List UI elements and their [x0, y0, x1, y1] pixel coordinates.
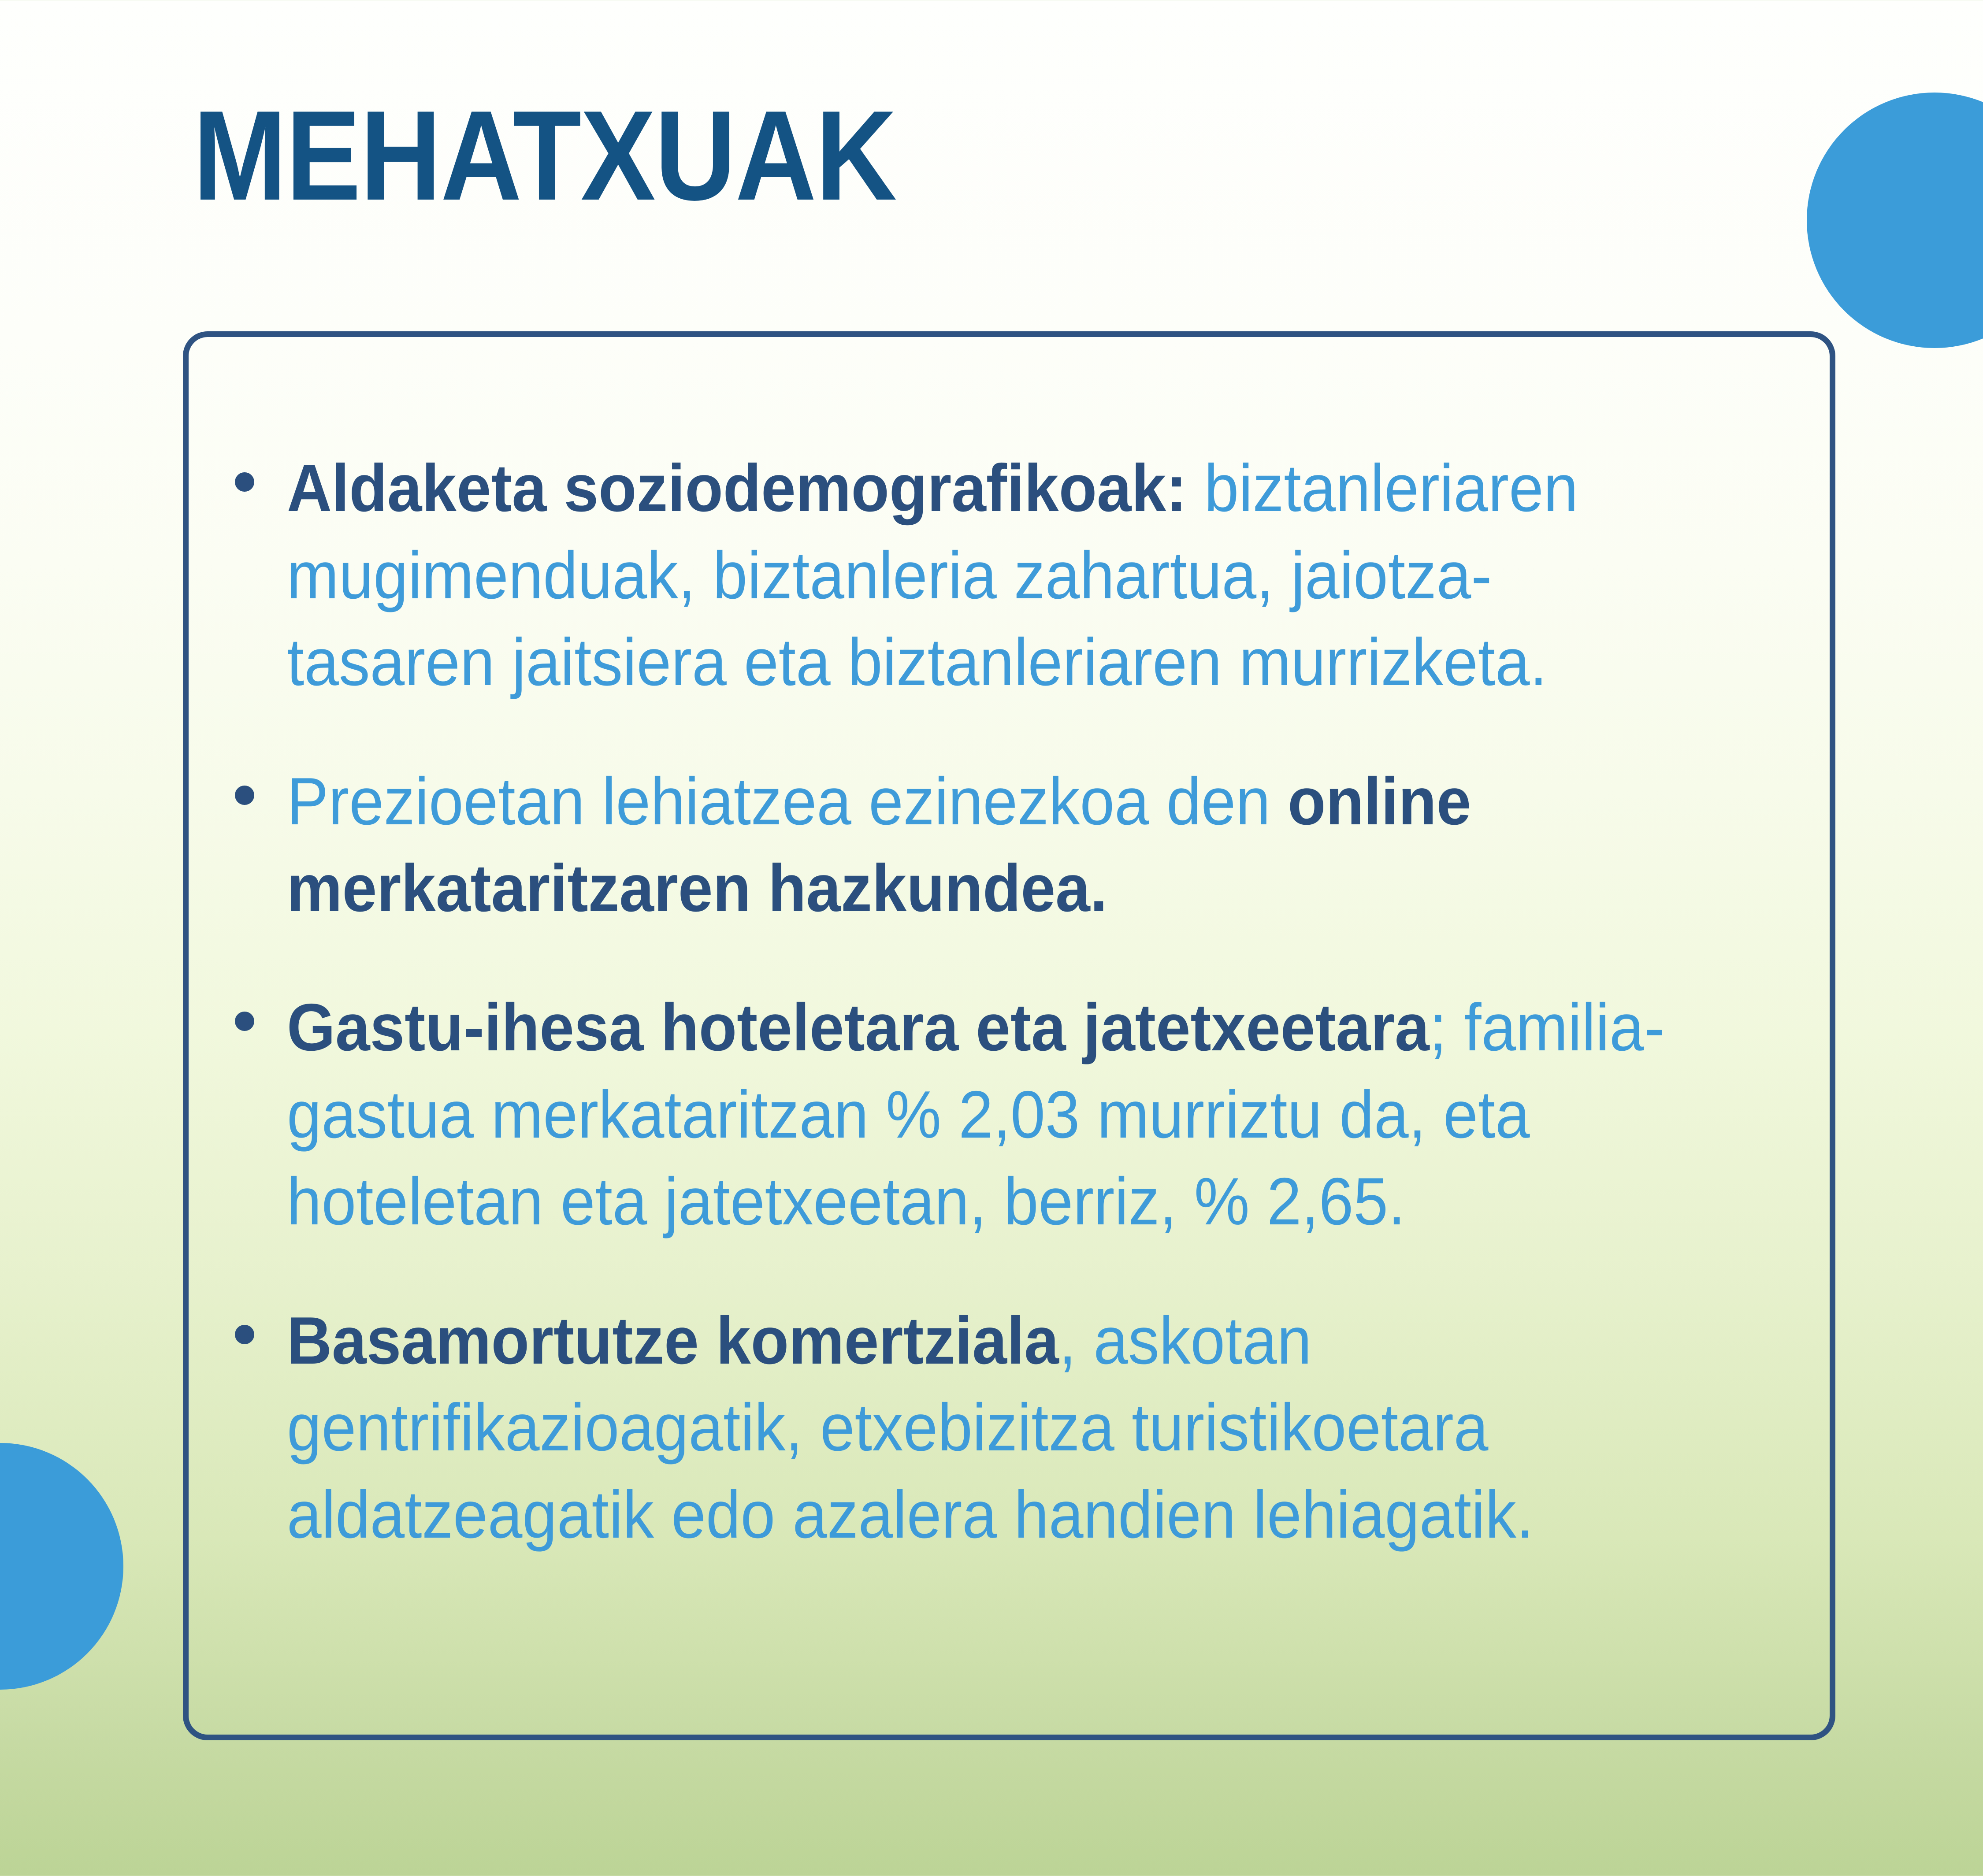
list-item-text: Gastu-ihesa hoteletara eta jatetxeetara;…	[287, 984, 1681, 1246]
list-item: Aldaketa soziodemografikoak: biztanleria…	[235, 445, 1786, 706]
list-item-segment-regular: Prezioetan lehiatzea ezinezkoa den	[287, 764, 1288, 839]
list-item-segment-bold: Basamortutze komertziala	[287, 1303, 1059, 1378]
list-item-text: Prezioetan lehiatzea ezinezkoa den onlin…	[287, 758, 1681, 932]
decorative-circle-bottom-left	[0, 1443, 123, 1690]
threats-card: Aldaketa soziodemografikoak: biztanleria…	[183, 331, 1835, 1740]
list-item-segment-bold: Gastu-ihesa hoteletara eta jatetxeetara	[287, 990, 1430, 1065]
list-item: Gastu-ihesa hoteletara eta jatetxeetara;…	[235, 984, 1786, 1246]
page-title: MEHATXUAK	[193, 92, 896, 219]
list-item-text: Basamortutze komertziala, askotan gentri…	[287, 1298, 1681, 1559]
list-item: Prezioetan lehiatzea ezinezkoa den onlin…	[235, 758, 1786, 932]
bullet-dot-icon	[235, 786, 254, 805]
bullet-dot-icon	[235, 1325, 254, 1344]
list-item-text: Aldaketa soziodemografikoak: biztanleria…	[287, 445, 1681, 706]
threats-bullet-list: Aldaketa soziodemografikoak: biztanleria…	[235, 445, 1786, 1559]
bullet-dot-icon	[235, 472, 254, 492]
decorative-circle-top-right	[1807, 93, 1983, 348]
bullet-dot-icon	[235, 1012, 254, 1031]
list-item: Basamortutze komertziala, askotan gentri…	[235, 1298, 1786, 1559]
list-item-segment-bold: Aldaketa soziodemografikoak:	[287, 451, 1204, 526]
